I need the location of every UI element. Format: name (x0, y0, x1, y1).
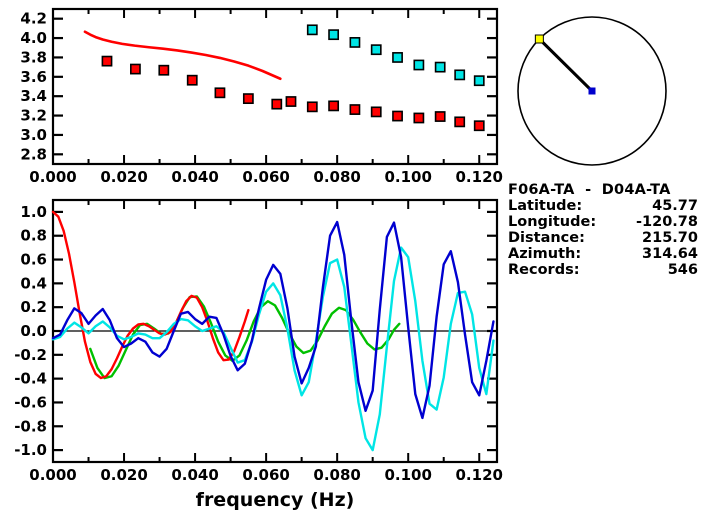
x-tick-label: 0.020 (100, 466, 147, 484)
data-point-marker (188, 76, 197, 85)
info-panel: F06A-TA - D04A-TA Latitude: 45.77 Longit… (508, 182, 698, 278)
data-point-marker (272, 100, 281, 109)
x-tick-label: 0.060 (242, 168, 289, 186)
y-tick-label: -0.6 (14, 393, 47, 411)
data-point-marker (329, 101, 338, 110)
data-point-marker (372, 107, 381, 116)
y-tick-label: 3.2 (20, 107, 47, 125)
azimuth-value: 314.64 (642, 246, 698, 262)
y-tick-label: 0.2 (20, 298, 47, 316)
x-tick-label: 0.100 (384, 168, 431, 186)
longitude-label: Longitude: (508, 214, 596, 230)
latitude-label: Latitude: (508, 198, 582, 214)
distance-row: Distance: 215.70 (508, 230, 698, 246)
y-tick-label: 3.8 (20, 48, 47, 66)
data-point-marker (393, 111, 402, 120)
y-tick-label: 0.4 (20, 274, 47, 292)
station-pair-title: F06A-TA - D04A-TA (508, 182, 698, 198)
distance-label: Distance: (508, 230, 585, 246)
data-point-marker (329, 30, 338, 39)
data-point-marker (244, 94, 253, 103)
longitude-value: -120.78 (636, 214, 698, 230)
records-row: Records: 546 (508, 262, 698, 278)
y-tick-label: 0.6 (20, 251, 47, 269)
x-tick-label: 0.040 (171, 466, 218, 484)
y-tick-label: -1.0 (14, 441, 47, 459)
latitude-value: 45.77 (652, 198, 698, 214)
figure-root: 0.0000.0200.0400.0600.0800.1000.1202.83.… (0, 0, 702, 519)
y-tick-label: -0.2 (14, 346, 47, 364)
y-tick-label: 1.0 (20, 203, 47, 221)
data-point-marker (436, 63, 445, 72)
center-station-marker (589, 88, 596, 95)
latitude-row: Latitude: 45.77 (508, 198, 698, 214)
x-tick-label: 0.040 (171, 168, 218, 186)
data-point-marker (393, 53, 402, 62)
y-tick-label: 0.0 (20, 322, 47, 340)
x-tick-label: 0.000 (29, 466, 76, 484)
x-tick-label: 0.000 (29, 168, 76, 186)
y-tick-label: 3.0 (20, 126, 47, 144)
data-point-marker (475, 76, 484, 85)
data-point-marker (414, 113, 423, 122)
y-tick-label: 4.0 (20, 29, 47, 47)
y-tick-label: 0.8 (20, 227, 47, 245)
data-point-marker (372, 45, 381, 54)
y-tick-label: -0.8 (14, 417, 47, 435)
data-point-marker (455, 70, 464, 79)
x-tick-label: 0.080 (313, 168, 360, 186)
x-tick-label: 0.080 (313, 466, 360, 484)
remote-station-marker (535, 35, 543, 43)
x-tick-label: 0.100 (384, 466, 431, 484)
records-value: 546 (668, 262, 698, 278)
x-tick-label: 0.120 (456, 168, 503, 186)
data-point-marker (414, 60, 423, 69)
data-point-marker (350, 38, 359, 47)
data-point-marker (436, 112, 445, 121)
data-point-marker (350, 105, 359, 114)
x-tick-label: 0.020 (100, 168, 147, 186)
distance-value: 215.70 (642, 230, 698, 246)
records-label: Records: (508, 262, 580, 278)
y-tick-label: -0.4 (14, 370, 47, 388)
data-point-marker (286, 97, 295, 106)
data-point-marker (159, 66, 168, 75)
data-point-marker (131, 64, 140, 73)
x-tick-label: 0.120 (456, 466, 503, 484)
azimuth-label: Azimuth: (508, 246, 581, 262)
y-tick-label: 3.6 (20, 68, 47, 86)
data-point-marker (475, 121, 484, 130)
data-point-marker (308, 102, 317, 111)
data-point-marker (102, 57, 111, 66)
data-point-marker (455, 117, 464, 126)
y-tick-label: 3.4 (20, 87, 47, 105)
y-tick-label: 2.8 (20, 145, 47, 163)
longitude-row: Longitude: -120.78 (508, 214, 698, 230)
azimuth-row: Azimuth: 314.64 (508, 246, 698, 262)
data-point-marker (308, 25, 317, 34)
data-point-marker (215, 88, 224, 97)
y-tick-label: 4.2 (20, 10, 47, 28)
x-tick-label: 0.060 (242, 466, 289, 484)
x-axis-label: frequency (Hz) (196, 489, 355, 511)
